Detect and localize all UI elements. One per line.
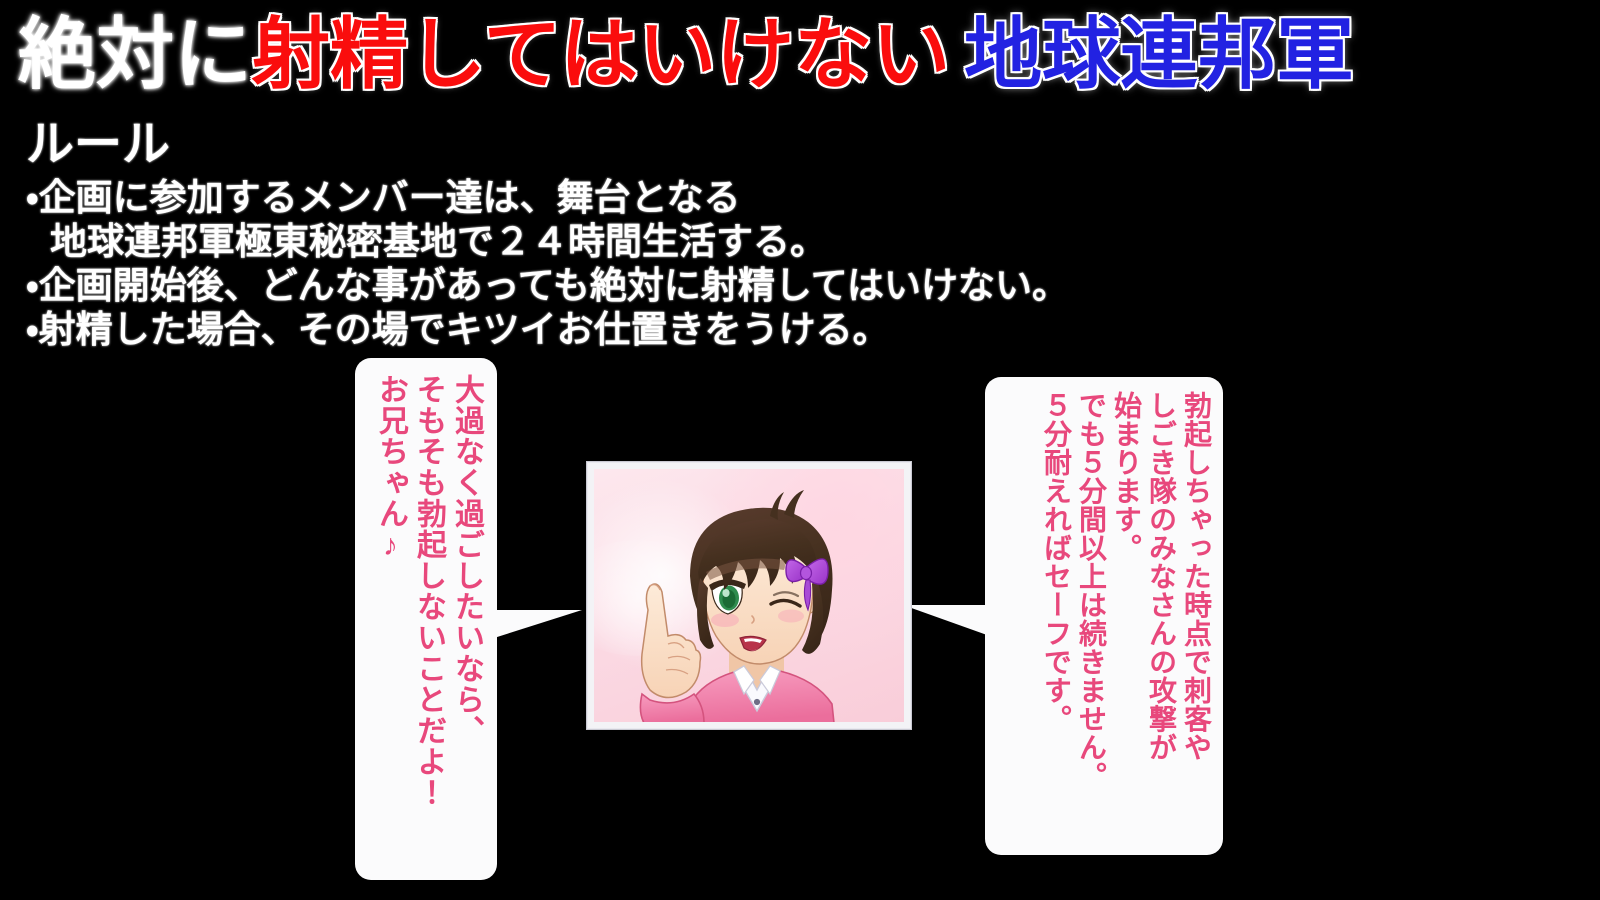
slide-canvas: 絶対に射精してはいけない地球連邦軍 ルール ・企画に参加するメンバー達は、舞台と… <box>0 0 1600 900</box>
speech-bubble-left: 大過なく過ごしたいなら、 そもそも勃起しないことだよ！ お兄ちゃん♪ <box>355 358 497 880</box>
rule-line: ・企画開始後、どんな事があっても絶対に射精してはいけない。 <box>26 264 1286 308</box>
rules-block: ルール ・企画に参加するメンバー達は、舞台となる 地球連邦軍極東秘密基地で２４時… <box>26 118 1286 352</box>
pointing-hand <box>642 584 701 698</box>
rule-line: ・企画に参加するメンバー達は、舞台となる <box>26 176 1286 220</box>
speech-bubble-right-body: 勃起しちゃった時点で刺客や しごき隊のみなさんの攻撃が 始まります。 でも５分間… <box>985 377 1223 855</box>
bubble-right-column: でも５分間以上は続きません。 <box>1073 391 1108 790</box>
title-segment-blue: 地球連邦軍 <box>964 6 1354 102</box>
rule-line: 地球連邦軍極東秘密基地で２４時間生活する。 <box>26 220 1286 264</box>
speech-bubble-left-body: 大過なく過ごしたいなら、 そもそも勃起しないことだよ！ お兄ちゃん♪ <box>355 358 497 880</box>
bubble-right-column: 勃起しちゃった時点で刺客や <box>1178 391 1213 762</box>
bubble-left-column: お兄ちゃん♪ <box>371 374 409 563</box>
speech-bubble-left-tail <box>494 610 582 638</box>
bubble-left-column: そもそも勃起しないことだよ！ <box>409 374 447 808</box>
bubble-right-column: ５分耐えればセーフです。 <box>1038 391 1073 733</box>
speech-bubble-right: 勃起しちゃった時点で刺客や しごき隊のみなさんの攻撃が 始まります。 でも５分間… <box>985 377 1223 855</box>
rule-line: ・射精した場合、その場でキツイお仕置きをうける。 <box>26 308 1286 352</box>
bubble-right-column: しごき隊のみなさんの攻撃が <box>1143 391 1178 762</box>
anime-girl-illustration <box>594 469 904 722</box>
title-segment-white: 絶対に <box>18 6 252 102</box>
character-picture <box>594 469 904 722</box>
speech-bubble-right-tail <box>903 605 987 635</box>
character-picture-frame <box>586 461 912 730</box>
rules-heading: ルール <box>26 118 1286 172</box>
page-title: 絶対に射精してはいけない地球連邦軍 <box>18 6 1354 102</box>
title-segment-red: 射精してはいけない <box>252 6 950 102</box>
bubble-left-column: 大過なく過ごしたいなら、 <box>447 374 485 746</box>
bubble-right-column: 始まります。 <box>1108 391 1143 562</box>
